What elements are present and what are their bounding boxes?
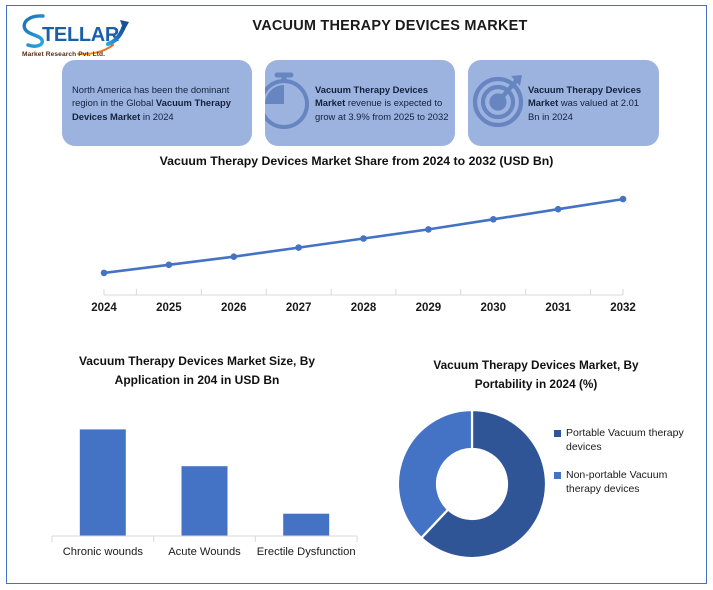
legend-item: Portable Vacuum therapy devices [554, 426, 704, 454]
line-data-point [101, 270, 108, 277]
info-box-value: Vacuum Therapy Devices Market was valued… [468, 60, 659, 146]
page-title: VACUUM THERAPY DEVICES MARKET [180, 18, 600, 34]
bar-chart: Vacuum Therapy Devices Market Size, By A… [12, 352, 382, 580]
line-data-point [360, 235, 367, 242]
donut-chart: Vacuum Therapy Devices Market, By Portab… [386, 356, 704, 580]
line-chart-x-label: 2032 [610, 302, 636, 314]
line-data-point [166, 262, 173, 269]
info-box-cagr: Vacuum Therapy Devices Market revenue is… [265, 60, 455, 146]
bar-chart-x-label: Acute Wounds [168, 546, 241, 558]
info-box-value-text: Vacuum Therapy Devices Market was valued… [468, 83, 659, 124]
line-data-point [555, 206, 562, 213]
bar [80, 429, 126, 536]
stellar-logo: TELLAR Market Research Pvt. Ltd. [16, 10, 140, 60]
bar [283, 514, 329, 536]
legend-item: Non-portable Vacuum therapy devices [554, 468, 704, 496]
line-data-point [490, 216, 497, 223]
line-chart-x-label: 2027 [286, 302, 312, 314]
info-box-cagr-text: Vacuum Therapy Devices Market revenue is… [265, 83, 455, 124]
logo-icon: TELLAR Market Research Pvt. Ltd. [16, 10, 140, 60]
line-chart-title: Vacuum Therapy Devices Market Share from… [8, 154, 705, 168]
logo-tagline: Market Research Pvt. Ltd. [22, 51, 105, 58]
info-box-region-text: North America has been the dominant regi… [62, 83, 252, 124]
bar-chart-x-labels: Chronic woundsAcute WoundsErectile Dysfu… [12, 546, 382, 568]
line-chart-x-label: 2028 [351, 302, 377, 314]
infographic-page: TELLAR Market Research Pvt. Ltd. VACUUM … [0, 0, 713, 590]
line-data-point [231, 253, 238, 260]
line-chart-x-label: 2025 [156, 302, 182, 314]
bar [182, 466, 228, 536]
donut-chart-plot [392, 404, 552, 564]
bar-chart-plot [12, 404, 382, 554]
legend-label: Non-portable Vacuum therapy devices [566, 468, 704, 496]
donut-chart-legend: Portable Vacuum therapy devicesNon-porta… [554, 426, 704, 510]
donut-chart-title-line2: Portability in 2024 (%) [475, 377, 598, 391]
line-data-point [295, 244, 302, 251]
bar-chart-x-label: Erectile Dysfunction [257, 546, 356, 558]
info-box-region: North America has been the dominant regi… [62, 60, 252, 146]
donut-chart-title: Vacuum Therapy Devices Market, By Portab… [386, 356, 686, 394]
line-chart-x-labels: 202420252026202720282029203020312032 [8, 302, 705, 326]
legend-swatch-icon [554, 430, 561, 437]
line-chart-x-label: 2030 [480, 302, 506, 314]
bar-chart-title-line2: Application in 204 in USD Bn [115, 373, 280, 387]
donut-chart-title-line1: Vacuum Therapy Devices Market, By [433, 358, 638, 372]
bar-chart-x-label: Chronic wounds [63, 546, 143, 558]
bar-chart-title-line1: Vacuum Therapy Devices Market Size, By [79, 354, 315, 368]
line-chart-plot [8, 176, 705, 296]
line-data-point [620, 196, 627, 203]
line-chart-x-label: 2029 [416, 302, 442, 314]
line-chart-x-label: 2026 [221, 302, 247, 314]
bar-chart-title: Vacuum Therapy Devices Market Size, By A… [12, 352, 382, 390]
line-chart-x-label: 2031 [545, 302, 571, 314]
line-chart-x-label: 2024 [91, 302, 117, 314]
line-data-point [425, 226, 432, 233]
info-box-row: North America has been the dominant regi… [62, 60, 662, 146]
legend-swatch-icon [554, 472, 561, 479]
line-chart: Vacuum Therapy Devices Market Share from… [8, 150, 705, 332]
legend-label: Portable Vacuum therapy devices [566, 426, 704, 454]
